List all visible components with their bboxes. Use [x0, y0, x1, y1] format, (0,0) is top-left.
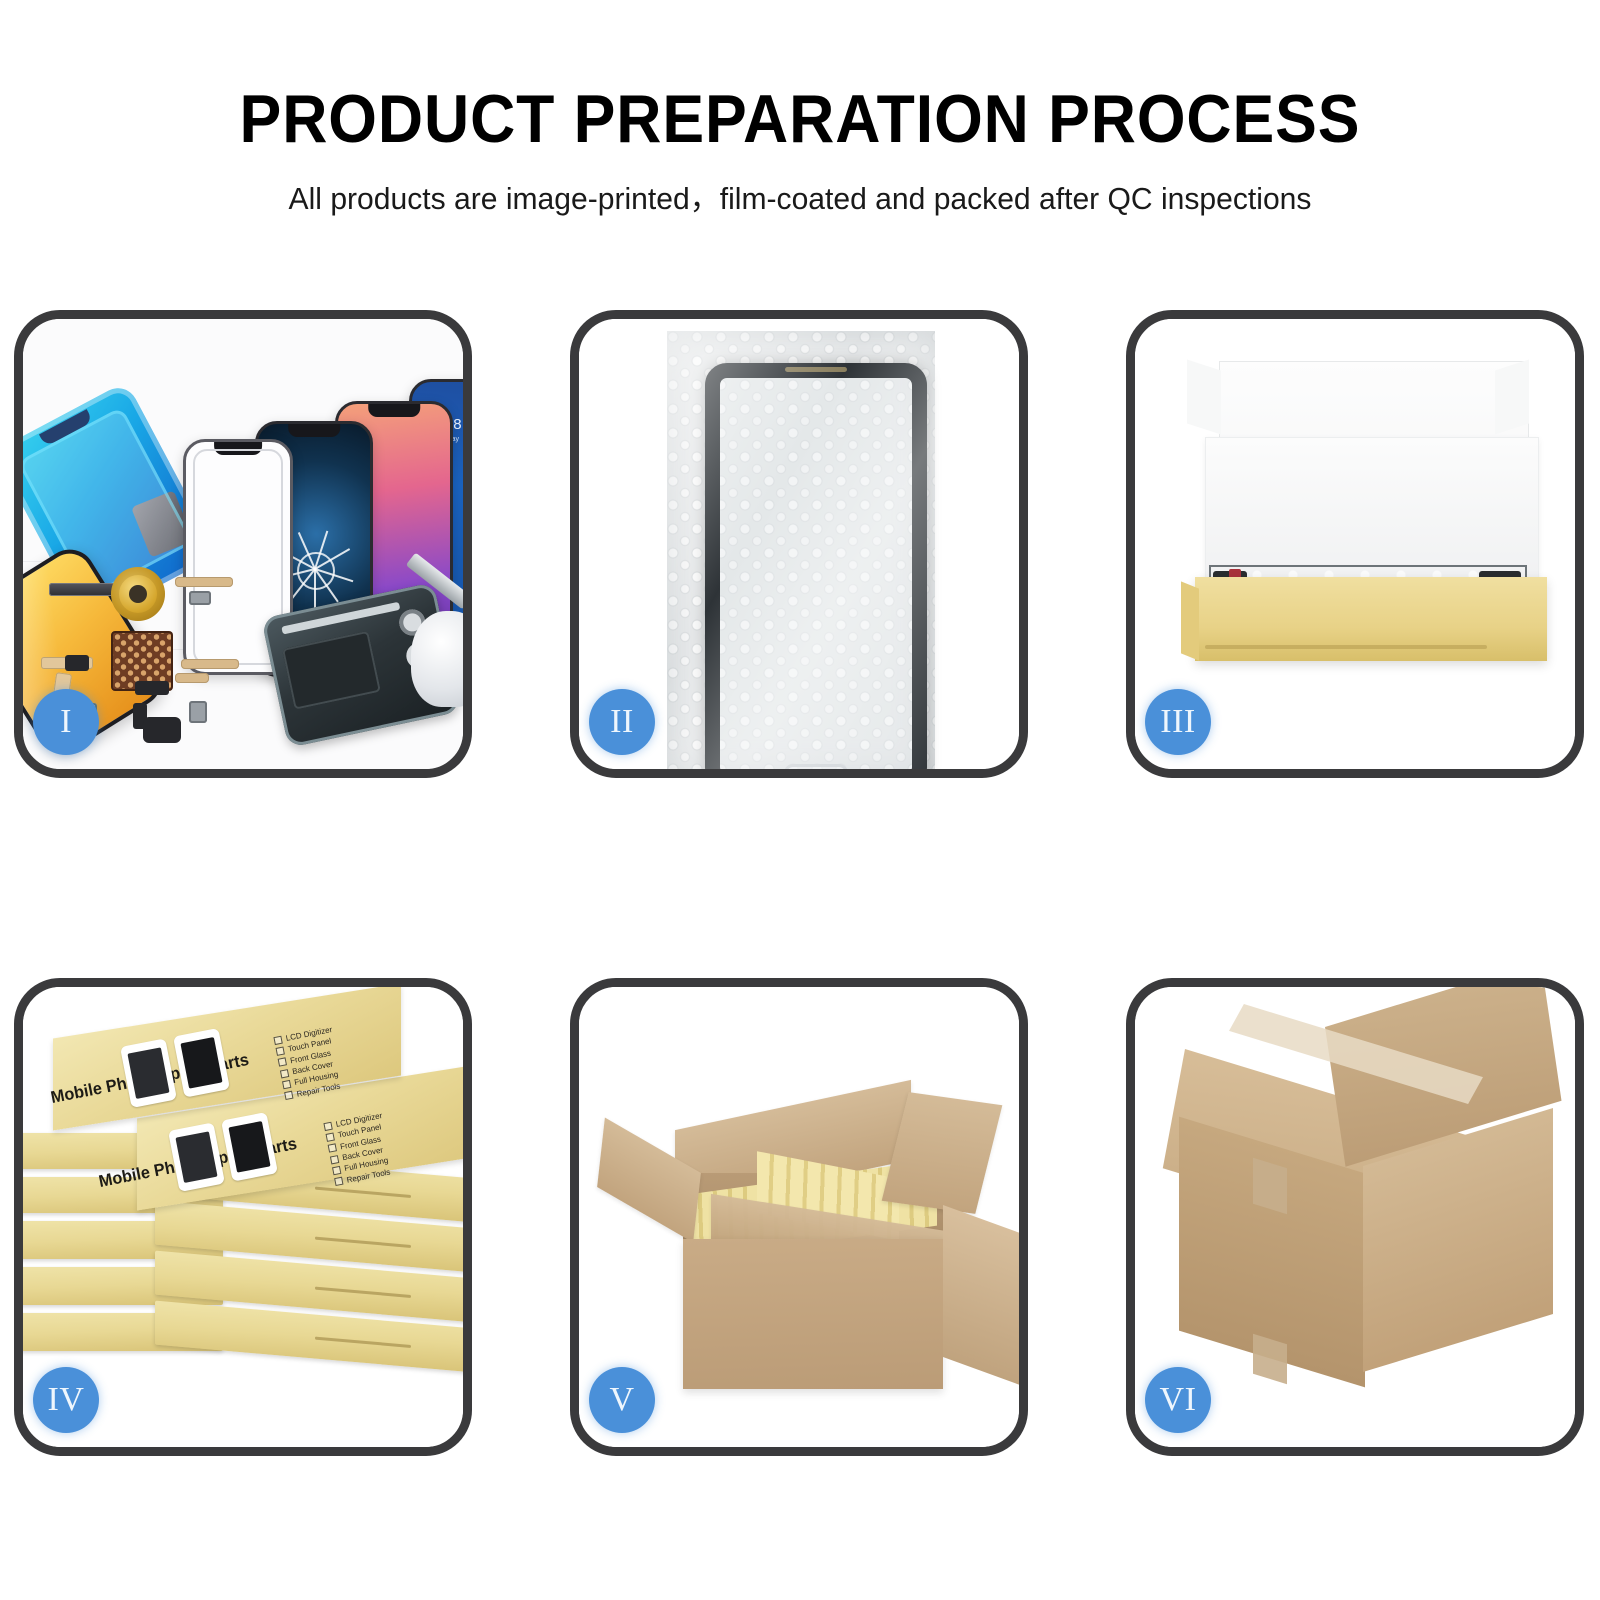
checkbox-icon [332, 1166, 341, 1175]
step-numeral: II [610, 705, 634, 739]
battery-part [282, 631, 381, 710]
home-button-cutout [784, 764, 848, 769]
gloved-hand [411, 611, 463, 707]
screwdriver-tool-icon [426, 761, 463, 769]
antenna-stripe [281, 602, 400, 635]
module-part [65, 655, 89, 671]
box-checklist: LCD Digitizer Touch Panel Front Glass Ba… [273, 1024, 344, 1102]
process-step-panel-3: III [1126, 310, 1584, 778]
phone-notch [288, 424, 340, 437]
camera-module-part [143, 717, 181, 743]
process-step-panel-2: II [570, 310, 1028, 778]
checkbox-icon [330, 1155, 339, 1164]
step-numeral: IV [48, 1383, 85, 1417]
box-slot [315, 1187, 411, 1198]
step-numeral: V [609, 1383, 634, 1417]
box-slot [315, 1287, 411, 1298]
step-badge-6: VI [1145, 1367, 1211, 1433]
front-glass-panel [705, 363, 927, 769]
checkbox-icon [334, 1177, 343, 1186]
phone-notch [39, 409, 93, 447]
box-slot [315, 1237, 411, 1248]
bubble-wrap [667, 331, 935, 769]
flex-cable-part [175, 673, 209, 683]
checkbox-icon [282, 1080, 291, 1089]
flex-cable-part [175, 577, 233, 587]
box-checklist: LCD Digitizer Touch Panel Front Glass Ba… [323, 1110, 394, 1188]
checkbox-icon [276, 1047, 285, 1056]
checkbox-icon [328, 1144, 337, 1153]
speaker-module-part [49, 583, 115, 596]
checkbox-icon [284, 1091, 293, 1100]
step-badge-2: II [589, 689, 655, 755]
process-step-panel-6: VI [1126, 978, 1584, 1456]
earpiece-speaker-slot [785, 367, 847, 372]
checkbox-icon [323, 1121, 332, 1130]
step-badge-1: I [33, 689, 99, 755]
retail-box-stack: Mobile Phone Spare Parts Mobile Phone Sp… [23, 1015, 463, 1435]
process-step-panel-1: 08:08 Thu 18 May [14, 310, 472, 778]
flex-cable-part [181, 659, 239, 669]
box-slot [315, 1337, 411, 1348]
kraft-box-tray [1195, 577, 1547, 661]
process-step-panel-5: V [570, 978, 1028, 1456]
step-badge-3: III [1145, 689, 1211, 755]
process-step-panel-4: Mobile Phone Spare Parts Mobile Phone Sp… [14, 978, 472, 1456]
step-numeral: I [60, 705, 72, 739]
phone-notch [368, 404, 420, 417]
carton-body [683, 1239, 943, 1389]
step-numeral: III [1160, 705, 1195, 739]
box-lid-tab-left [1187, 359, 1221, 434]
checkbox-icon [326, 1133, 335, 1142]
box-lid-front [1205, 437, 1539, 585]
process-step-grid: 08:08 Thu 18 May [0, 0, 1600, 1600]
connector-part [189, 591, 211, 605]
step-badge-4: IV [33, 1367, 99, 1433]
box-lid-tab-right [1495, 359, 1529, 434]
carton-side-face [943, 1205, 1019, 1392]
checkbox-icon [280, 1069, 289, 1078]
checkbox-icon [278, 1058, 287, 1067]
connector-part [189, 701, 207, 723]
step-numeral: VI [1160, 1383, 1197, 1417]
checkbox-icon [273, 1035, 282, 1044]
wireless-charging-coil-part [111, 567, 165, 621]
module-part [135, 681, 169, 695]
step-badge-5: V [589, 1367, 655, 1433]
